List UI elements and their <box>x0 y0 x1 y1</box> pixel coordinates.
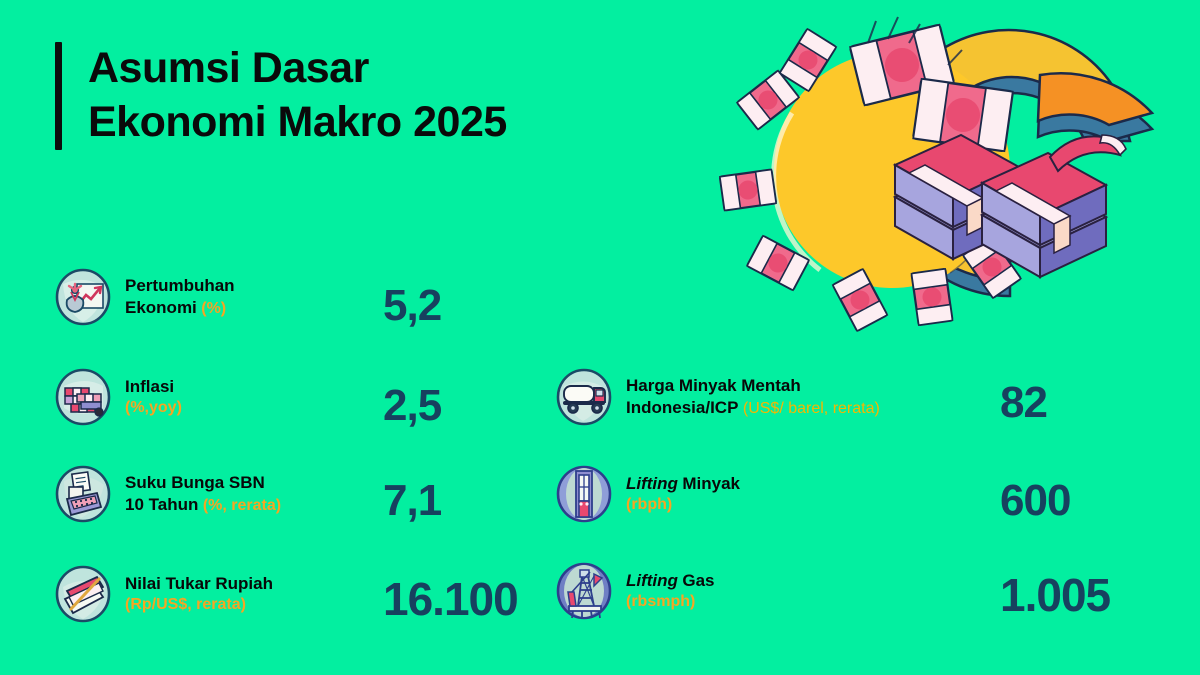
stat-label: Minyak <box>682 474 740 493</box>
stat-label: Harga Minyak Mentah <box>626 376 801 395</box>
stat-row-lifting-minyak[interactable]: Lifting Minyak (rbph) <box>556 465 740 523</box>
stat-value-suku-bunga-sbn: 7,1 <box>383 476 441 526</box>
stat-row-inflasi[interactable]: Inflasi (%,yoy) <box>55 368 182 426</box>
stat-label: Ekonomi <box>125 298 197 317</box>
stat-label: 10 Tahun <box>125 495 198 514</box>
stat-row-suku-bunga-sbn[interactable]: Suku Bunga SBN 10 Tahun (%, rerata) <box>55 465 281 523</box>
stat-unit: (%) <box>201 300 226 317</box>
stat-unit: (US$/ barel, rerata) <box>743 400 880 417</box>
stat-row-nilai-tukar-rupiah[interactable]: Nilai Tukar Rupiah (Rp/US$, rerata) <box>55 565 273 623</box>
stat-label: Gas <box>682 571 714 590</box>
stat-label-italic: Lifting <box>626 474 678 493</box>
infographic-canvas: Asumsi Dasar Ekonomi Makro 2025 <box>0 0 1200 675</box>
stat-value-nilai-tukar-rupiah: 16.100 <box>383 572 518 626</box>
money-stacks-icon <box>55 368 111 426</box>
stat-label: Nilai Tukar Rupiah <box>125 574 273 593</box>
stat-unit: (Rp/US$, rerata) <box>125 596 246 613</box>
stat-value-harga-minyak-mentah: 82 <box>1000 378 1047 428</box>
stat-value-lifting-minyak: 600 <box>1000 476 1070 526</box>
title-accent-bar <box>55 42 62 150</box>
stat-label: Inflasi <box>125 377 174 396</box>
tanker-truck-icon <box>556 368 612 426</box>
money-bag-growth-chart-icon <box>55 268 111 326</box>
stat-unit: (rbsmph) <box>626 593 695 610</box>
money-donut-chart-illustration <box>700 5 1200 350</box>
stat-row-lifting-gas[interactable]: Lifting Gas (rbsmph) <box>556 562 715 620</box>
stat-row-pertumbuhan-ekonomi[interactable]: Pertumbuhan Ekonomi (%) <box>55 268 235 326</box>
page-title: Asumsi Dasar Ekonomi Makro 2025 <box>55 42 507 150</box>
gas-platform-derrick-icon <box>556 562 612 620</box>
stat-row-harga-minyak-mentah[interactable]: Harga Minyak Mentah Indonesia/ICP (US$/ … <box>556 368 880 426</box>
calculator-documents-icon <box>55 465 111 523</box>
stat-unit: (%, rerata) <box>203 497 281 514</box>
stat-value-lifting-gas: 1.005 <box>1000 568 1110 622</box>
title-line-2: Ekonomi Makro 2025 <box>88 96 507 150</box>
stat-value-inflasi: 2,5 <box>383 381 441 431</box>
stat-unit: (%,yoy) <box>125 399 182 416</box>
stat-label: Pertumbuhan <box>125 276 235 295</box>
stat-label-italic: Lifting <box>626 571 678 590</box>
oil-rig-pump-icon <box>556 465 612 523</box>
stat-label: Indonesia/ICP <box>626 398 738 417</box>
title-line-1: Asumsi Dasar <box>88 42 507 96</box>
indonesia-flag-money-icon <box>55 565 111 623</box>
stat-unit: (rbph) <box>626 496 672 513</box>
stat-label: Suku Bunga SBN <box>125 473 265 492</box>
stat-value-pertumbuhan-ekonomi: 5,2 <box>383 281 441 331</box>
